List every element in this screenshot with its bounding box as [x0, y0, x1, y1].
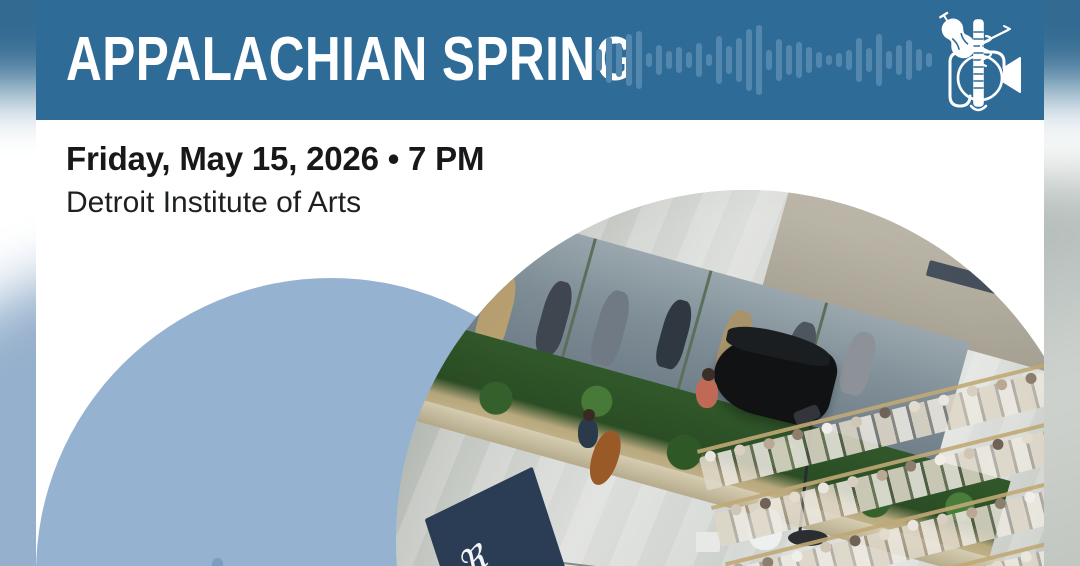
waveform-bar	[826, 55, 832, 65]
waveform-bar	[666, 51, 672, 69]
photo-musician-violinist-head	[702, 368, 715, 381]
waveform-bar	[616, 43, 622, 77]
waveform-bar	[606, 37, 612, 83]
photo-musician-cellist	[578, 418, 598, 448]
waveform-bar	[886, 51, 892, 69]
orchestra-instruments-logo	[924, 6, 1028, 114]
audio-waveform-graphic	[596, 0, 956, 120]
audience-member	[761, 556, 774, 566]
waveform-bar	[836, 53, 842, 67]
event-date: Friday, May 15, 2026 • 7 PM	[66, 138, 766, 180]
concert-photo-image: ℜ	[396, 190, 1044, 566]
waveform-bar	[726, 46, 732, 74]
waveform-bar	[736, 38, 742, 82]
waveform-bar	[806, 47, 812, 73]
waveform-bar	[686, 52, 692, 68]
event-card: APPALACHIAN SPRING	[36, 0, 1044, 566]
waveform-bar	[646, 53, 652, 67]
waveform-bar	[906, 40, 912, 80]
waveform-bar	[746, 29, 752, 91]
waveform-bar	[856, 38, 862, 82]
waveform-bar	[596, 49, 602, 71]
waveform-bar	[696, 43, 702, 77]
decorative-bar	[212, 558, 223, 566]
waveform-bar	[866, 48, 872, 72]
card-header: APPALACHIAN SPRING	[36, 0, 1044, 120]
waveform-bar	[656, 45, 662, 75]
waveform-bar	[896, 45, 902, 75]
photo-musician-cellist-head	[583, 409, 595, 421]
waveform-bar	[776, 39, 782, 81]
photo-music-stand-2	[696, 532, 720, 552]
waveform-bar	[766, 50, 772, 70]
waveform-bar	[636, 31, 642, 89]
page-title: APPALACHIAN SPRING	[66, 27, 634, 93]
waveform-bar	[846, 50, 852, 70]
waveform-bar	[716, 36, 722, 84]
waveform-bar	[706, 54, 712, 66]
waveform-bar	[916, 49, 922, 71]
waveform-bar	[796, 42, 802, 78]
waveform-bar	[816, 52, 822, 68]
poster-stage: APPALACHIAN SPRING	[0, 0, 1080, 566]
waveform-bar	[786, 45, 792, 75]
waveform-bar	[626, 34, 632, 86]
concert-photo: ℜ	[396, 190, 1044, 566]
waveform-bar	[756, 25, 762, 95]
waveform-bar	[676, 47, 682, 73]
waveform-bar	[876, 34, 882, 86]
